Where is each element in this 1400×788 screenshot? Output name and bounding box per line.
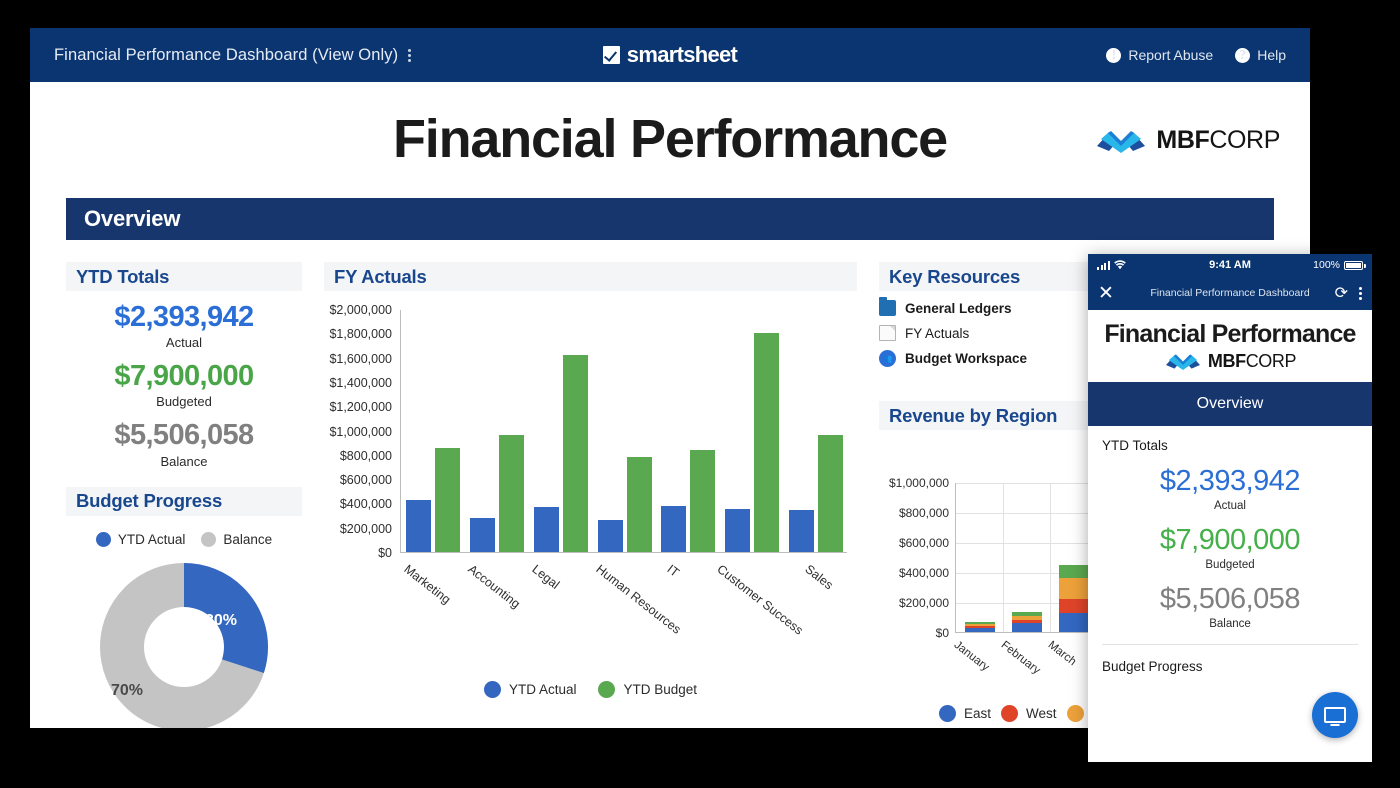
mbf-mark-icon	[1164, 353, 1202, 370]
kpi-actual-value: $2,393,942	[66, 300, 302, 334]
fy-bar-actual	[534, 507, 559, 552]
kpi-budgeted-label: Budgeted	[66, 394, 302, 409]
folder-icon	[879, 300, 896, 316]
revenue-y-tick-label: $1,000,000	[889, 476, 949, 490]
phone-company-name: MBFCORP	[1208, 351, 1296, 372]
fy-bar-budget	[818, 435, 843, 552]
document-title: Financial Performance Dashboard (View On…	[54, 46, 398, 65]
phone-ytd-totals-label: YTD Totals	[1102, 438, 1358, 453]
phone-company-logo: MBFCORP	[1088, 351, 1372, 382]
sheet-icon	[879, 325, 896, 341]
resource-label: FY Actuals	[905, 326, 969, 341]
fy-actuals-chart: $0$200,000$400,000$600,000$800,000$1,000…	[324, 300, 857, 700]
fy-y-tick-label: $1,000,000	[329, 425, 392, 439]
revenue-y-tick-label: $200,000	[899, 596, 949, 610]
phone-kpi-balance-value: $5,506,058	[1102, 583, 1358, 616]
budget-progress-title: Budget Progress	[76, 490, 222, 512]
revenue-y-tick-label: $400,000	[899, 566, 949, 580]
fy-legend-item-actual: YTD Actual	[484, 681, 577, 698]
monitor-icon	[1324, 707, 1346, 723]
smartsheet-logo[interactable]: smartsheet	[603, 42, 737, 68]
fy-bar-actual	[470, 518, 495, 552]
phone-status-right: 100%	[1313, 259, 1363, 271]
fy-category-label: Customer Success	[715, 562, 806, 638]
revenue-vertical-gridline	[1003, 483, 1004, 632]
phone-kpi-actual-label: Actual	[1102, 500, 1358, 512]
legend-swatch-ytd-budget	[598, 681, 615, 698]
chat-fab-button[interactable]	[1312, 692, 1358, 738]
report-abuse-label: Report Abuse	[1128, 47, 1213, 63]
app-bar-right: ! Report Abuse ? Help	[1106, 47, 1310, 63]
phone-kpi-balance-label: Balance	[1102, 618, 1358, 630]
revenue-y-tick-label: $600,000	[899, 536, 949, 550]
legend-label-actual: YTD Actual	[118, 532, 186, 547]
donut-legend-item-balance: Balance	[201, 532, 272, 547]
phone-page-title: Financial Performance	[1088, 310, 1372, 351]
key-resources-title: Key Resources	[889, 266, 1020, 288]
fy-category-label: Marketing	[401, 562, 453, 607]
donut-legend-item-actual: YTD Actual	[96, 532, 186, 547]
fy-bar-budget	[563, 355, 588, 552]
legend-label-ytd-actual: YTD Actual	[509, 682, 577, 697]
legend-swatch-ytd-actual	[484, 681, 501, 698]
donut-value-balance: 70%	[111, 682, 143, 699]
phone-kpi-actual-value: $2,393,942	[1102, 465, 1358, 498]
fy-bar-budget	[499, 435, 524, 552]
fy-legend-item-budget: YTD Budget	[598, 681, 697, 698]
revenue-y-tick-label: $0	[936, 626, 949, 640]
phone-nav-bar: ✕ Financial Performance Dashboard ⟳	[1088, 276, 1372, 310]
fy-bar-budget	[690, 450, 715, 552]
app-bar-left: Financial Performance Dashboard (View On…	[30, 46, 411, 65]
phone-document-title: Financial Performance Dashboard	[1088, 287, 1372, 299]
kpi-actual-label: Actual	[66, 335, 302, 350]
revenue-category-label: February	[999, 639, 1043, 677]
fy-plot-area	[400, 310, 847, 553]
phone-company-name-bold: MBF	[1208, 351, 1246, 371]
fy-y-tick-label: $2,000,000	[329, 303, 392, 317]
fy-bar-actual	[661, 506, 686, 552]
fy-y-tick-label: $400,000	[340, 497, 392, 511]
dashboard-header: Financial Performance MBFCORP	[66, 82, 1274, 198]
ytd-totals-title: YTD Totals	[76, 266, 169, 288]
kpi-balance: $5,506,058 Balance	[66, 418, 302, 468]
company-name-light: CORP	[1209, 126, 1280, 154]
phone-company-name-light: CORP	[1246, 351, 1296, 371]
revenue-vertical-gridline	[1050, 483, 1051, 632]
phone-status-bar: 9:41 AM 100%	[1088, 254, 1372, 276]
fy-y-tick-label: $1,400,000	[329, 376, 392, 390]
fy-bar-actual	[598, 520, 623, 552]
phone-kpi-balance: $5,506,058 Balance	[1102, 583, 1358, 630]
fy-category-label: Sales	[802, 562, 835, 592]
fy-y-tick-label: $200,000	[340, 522, 392, 536]
revenue-bar-segment-south	[1059, 565, 1089, 579]
phone-kpi-budgeted: $7,900,000 Budgeted	[1102, 524, 1358, 571]
legend-label-west: West	[1026, 706, 1057, 721]
fy-bar-budget	[754, 333, 779, 552]
close-icon[interactable]: ✕	[1098, 284, 1114, 303]
brand-name: smartsheet	[627, 42, 737, 68]
fy-category-label: Accounting	[465, 562, 522, 611]
budget-progress-donut: 30% 70%	[66, 557, 302, 728]
legend-swatch-actual	[96, 532, 111, 547]
budget-progress-header: Budget Progress	[66, 487, 302, 516]
phone-nav-actions: ⟳	[1335, 283, 1362, 303]
fy-bar-actual	[789, 510, 814, 552]
revenue-bar-segment-west	[1059, 599, 1089, 613]
fy-actuals-panel: FY Actuals $0$200,000$400,000$600,000$80…	[324, 262, 857, 710]
fy-legend: YTD Actual YTD Budget	[324, 681, 857, 698]
revenue-by-region-title: Revenue by Region	[889, 405, 1057, 427]
revenue-bar-segment-north	[1059, 578, 1089, 599]
help-label: Help	[1257, 47, 1286, 63]
fy-y-tick-label: $1,200,000	[329, 400, 392, 414]
legend-swatch-balance	[201, 532, 216, 547]
fy-y-tick-label: $1,600,000	[329, 352, 392, 366]
phone-overview-banner: Overview	[1088, 382, 1372, 426]
alert-icon: !	[1106, 48, 1121, 63]
legend-swatch-east	[939, 705, 956, 722]
revenue-y-tick-label: $800,000	[899, 506, 949, 520]
revenue-bar-segment-east	[1059, 613, 1089, 632]
donut-value-actual: 30%	[205, 612, 237, 629]
fy-bar-actual	[406, 500, 431, 552]
company-logo: MBFCORP	[1095, 126, 1280, 155]
phone-content: YTD Totals $2,393,942 Actual $7,900,000 …	[1088, 426, 1372, 645]
app-top-bar: Financial Performance Dashboard (View On…	[30, 28, 1310, 82]
revenue-bar-segment-east	[965, 628, 995, 633]
kpi-budgeted: $7,900,000 Budgeted	[66, 359, 302, 409]
legend-swatch-west	[1001, 705, 1018, 722]
mobile-preview: 9:41 AM 100% ✕ Financial Performance Das…	[1088, 254, 1372, 762]
document-menu-kebab-icon[interactable]	[408, 49, 411, 62]
resource-label: Budget Workspace	[905, 351, 1027, 366]
fy-bar-budget	[627, 457, 652, 552]
overview-banner: Overview	[66, 198, 1274, 240]
refresh-icon[interactable]: ⟳	[1335, 283, 1348, 303]
report-abuse-button[interactable]: ! Report Abuse	[1106, 47, 1213, 63]
workspace-icon: 👥	[879, 350, 896, 367]
legend-label-ytd-budget: YTD Budget	[623, 682, 697, 697]
ytd-totals-header: YTD Totals	[66, 262, 302, 291]
phone-budget-progress-label: Budget Progress	[1088, 645, 1372, 674]
company-name: MBFCORP	[1156, 126, 1280, 155]
screenshot-stage: Financial Performance Dashboard (View On…	[0, 0, 1400, 788]
fy-category-label: IT	[665, 562, 682, 580]
fy-bar-actual	[725, 509, 750, 552]
overview-banner-label: Overview	[84, 206, 180, 232]
fy-category-label: Legal	[529, 562, 562, 592]
overflow-menu-kebab-icon[interactable]	[1359, 287, 1362, 300]
fy-y-tick-label: $1,800,000	[329, 327, 392, 341]
revenue-legend-item-east: East	[939, 705, 991, 722]
kpi-balance-value: $5,506,058	[66, 418, 302, 452]
resource-label: General Ledgers	[905, 301, 1012, 316]
revenue-bar-segment-east	[1012, 623, 1042, 632]
revenue-legend-item-north	[1067, 705, 1084, 722]
kpi-actual: $2,393,942 Actual	[66, 300, 302, 350]
help-icon: ?	[1235, 48, 1250, 63]
phone-kpi-actual: $2,393,942 Actual	[1102, 465, 1358, 512]
donut-legend: YTD Actual Balance	[66, 532, 302, 547]
left-column: YTD Totals $2,393,942 Actual $7,900,000 …	[66, 262, 302, 710]
revenue-stacked-bar	[1059, 565, 1089, 633]
legend-swatch-north	[1067, 705, 1084, 722]
revenue-stacked-bar	[1012, 612, 1042, 632]
revenue-legend-item-west: West	[1001, 705, 1057, 722]
kpi-balance-label: Balance	[66, 454, 302, 469]
battery-percent: 100%	[1313, 259, 1340, 271]
fy-bar-budget	[435, 448, 460, 552]
fy-y-tick-label: $800,000	[340, 449, 392, 463]
mbf-mark-icon	[1095, 129, 1147, 153]
fy-y-tick-label: $0	[378, 546, 392, 560]
phone-kpi-budgeted-value: $7,900,000	[1102, 524, 1358, 557]
revenue-category-label: March	[1046, 639, 1079, 668]
fy-y-tick-label: $600,000	[340, 473, 392, 487]
revenue-stacked-bar	[965, 622, 995, 632]
donut-chart: 30% 70%	[94, 557, 274, 728]
legend-label-east: East	[964, 706, 991, 721]
phone-kpi-budgeted-label: Budgeted	[1102, 559, 1358, 571]
help-button[interactable]: ? Help	[1235, 47, 1286, 63]
revenue-category-label: January	[952, 639, 992, 674]
phone-overview-label: Overview	[1197, 395, 1264, 413]
company-name-bold: MBF	[1156, 126, 1209, 154]
battery-icon	[1344, 261, 1363, 270]
legend-label-balance: Balance	[223, 532, 272, 547]
kpi-budgeted-value: $7,900,000	[66, 359, 302, 393]
fy-actuals-header: FY Actuals	[324, 262, 857, 291]
fy-actuals-title: FY Actuals	[334, 266, 427, 288]
checkmark-icon	[603, 46, 620, 64]
